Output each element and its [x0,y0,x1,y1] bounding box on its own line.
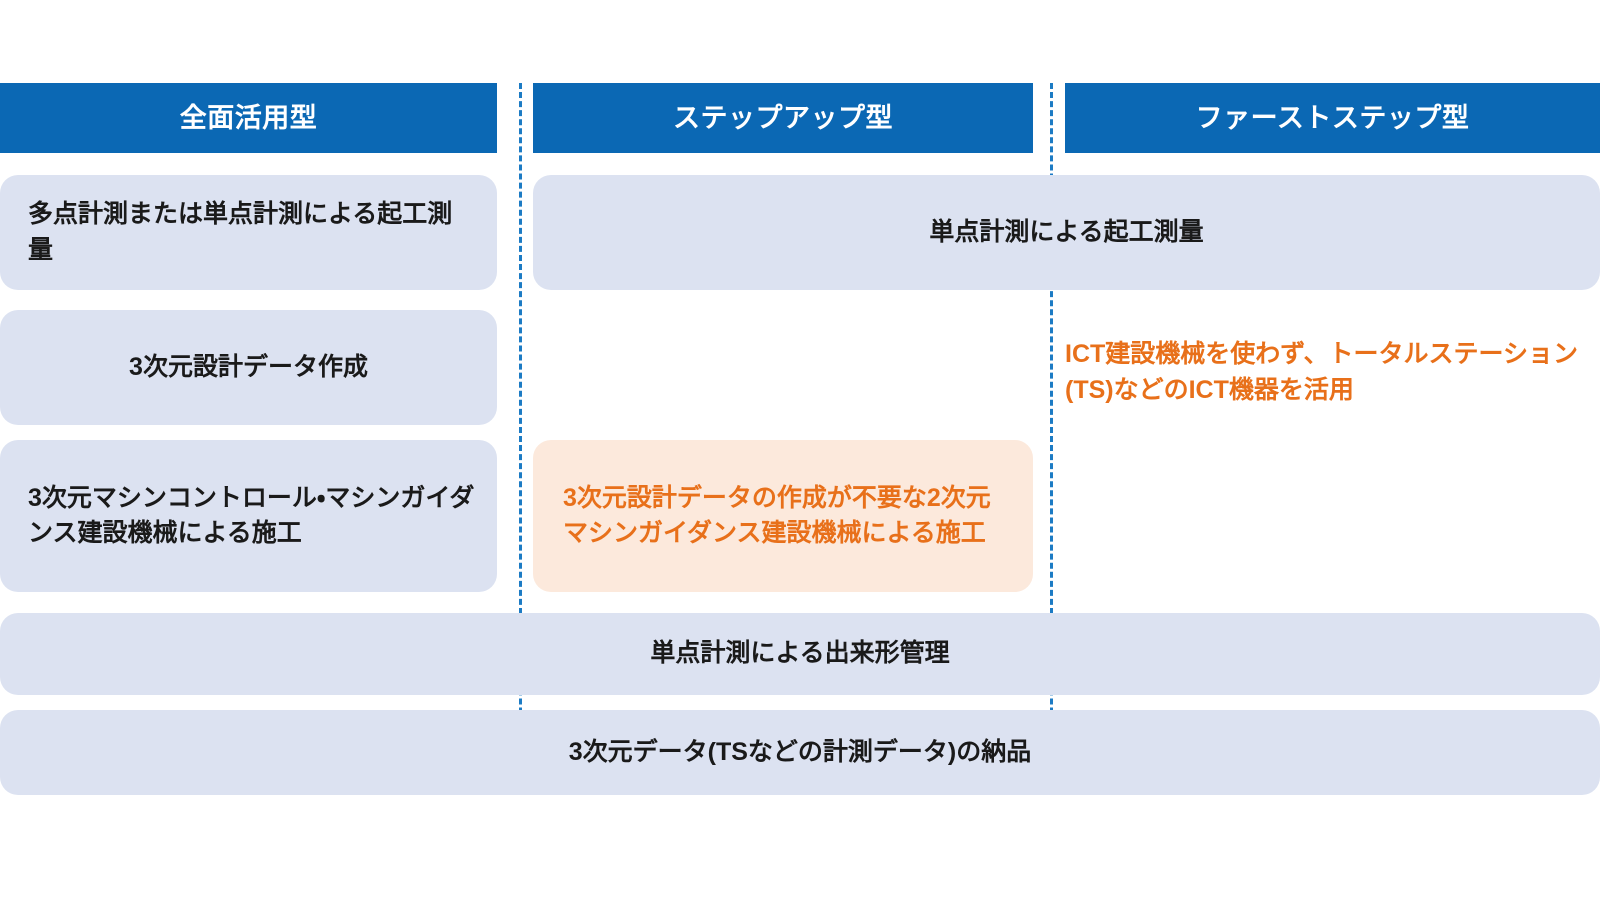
cell-merged-single-point-survey: 単点計測による起工測量 [533,175,1600,290]
column-header-firststep: ファーストステップ型 [1065,83,1600,153]
cell-merged-single-point-survey-label: 単点計測による起工測量 [909,215,1223,251]
cell-full-design-data: 3次元設計データ作成 [0,310,497,425]
column-header-full: 全面活用型 [0,83,497,153]
diagram-canvas: 全面活用型 ステップアップ型 ファーストステップ型 多点計測または単点計測による… [0,0,1600,900]
cell-stepup-2d-machine-guidance-label: 3次元設計データの作成が不要な2次元マシンガイダンス建設機械による施工 [533,481,1033,552]
cell-merged-3d-data-delivery: 3次元データ(TSなどの計測データ)の納品 [0,710,1600,795]
cell-full-machine-control-label: 3次元マシンコントロール・マシンガイダンス建設機械による施工 [0,481,497,552]
column-header-firststep-label: ファーストステップ型 [1196,105,1470,132]
cell-stepup-2d-machine-guidance: 3次元設計データの作成が不要な2次元マシンガイダンス建設機械による施工 [533,440,1033,592]
cell-merged-3d-data-delivery-label: 3次元データ(TSなどの計測データ)の納品 [549,735,1052,771]
column-header-stepup: ステップアップ型 [533,83,1033,153]
cell-full-survey: 多点計測または単点計測による起工測量 [0,175,497,290]
cell-full-design-data-label: 3次元設計データ作成 [109,350,388,386]
cell-merged-asbuilt-management: 単点計測による出来形管理 [0,613,1600,695]
note-firststep-ict-equipment-label: ICT建設機械を使わず、トータルステーション(TS)などのICT機器を活用 [1065,340,1578,404]
cell-full-machine-control: 3次元マシンコントロール・マシンガイダンス建設機械による施工 [0,440,497,592]
column-header-stepup-label: ステップアップ型 [673,105,893,132]
note-firststep-ict-equipment: ICT建設機械を使わず、トータルステーション(TS)などのICT機器を活用 [1065,336,1585,409]
column-header-full-label: 全面活用型 [180,105,318,132]
cell-full-survey-label: 多点計測または単点計測による起工測量 [0,197,497,268]
cell-merged-asbuilt-management-label: 単点計測による出来形管理 [630,636,969,672]
